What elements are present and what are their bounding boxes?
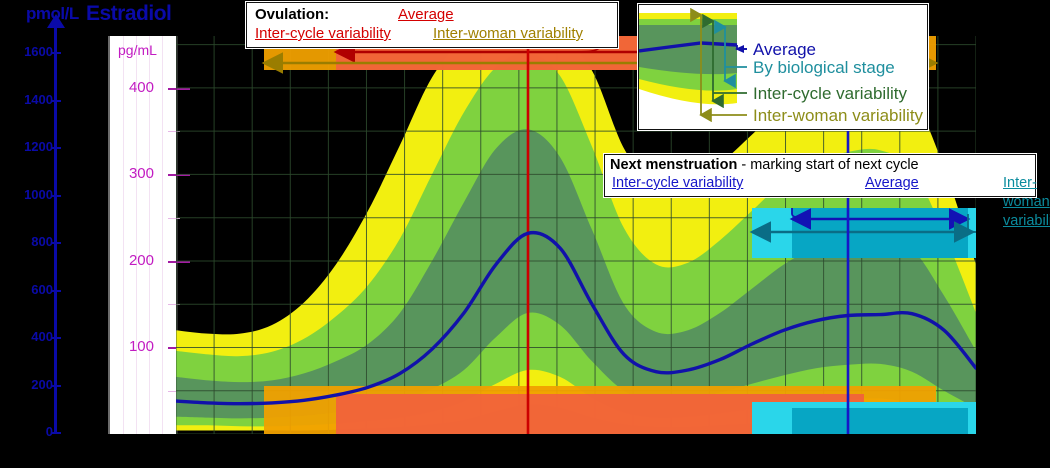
legend-item-label: Inter-cycle variability (753, 84, 907, 103)
pgml-axis-tick-label: 300 (129, 165, 154, 182)
legend-item-label: Average (753, 40, 816, 59)
pmol-axis-tick (52, 100, 61, 102)
menstruation-heading-bold: Next menstruation (610, 157, 737, 173)
menstruation-average-label: Average (865, 174, 919, 193)
legend-swatch-graphic: AverageBy biological stageInter-cycle va… (639, 5, 925, 127)
ovulation-annotation-card: Ovulation: Average Inter-cycle variabili… (246, 2, 618, 48)
pmol-axis-spine (54, 22, 57, 434)
pmol-axis-tick-label: 1400 (24, 92, 53, 107)
pmol-axis-tick (52, 195, 61, 197)
pmol-axis: pmol/L 16001400120010008006004002000 (0, 0, 105, 468)
pgml-axis-unit-label: pg/mL (118, 42, 157, 58)
pmol-axis-tick-label: 600 (31, 282, 53, 297)
pgml-axis-tick-label: 100 (129, 338, 154, 355)
pmol-axis-tick (52, 290, 61, 292)
ovulation-inter-cycle-label: Inter-cycle variability (255, 24, 391, 43)
legend-item-label: Inter-woman variability (753, 106, 924, 125)
pgml-axis: pg/mL 400300200100 (108, 36, 178, 434)
ovulation-heading: Ovulation: (255, 6, 329, 23)
pmol-axis-tick (52, 385, 61, 387)
pgml-axis-tick-label: 400 (129, 79, 154, 96)
pmol-axis-tick (52, 432, 61, 434)
legend-item-label: By biological stage (753, 58, 895, 77)
pmol-axis-tick-label: 1200 (24, 139, 53, 154)
pmol-axis-tick-label: 1600 (24, 44, 53, 59)
menstruation-inter-cycle-label: Inter-cycle variability (612, 174, 743, 193)
menstruation-inter-cycle-span-bottom (792, 408, 968, 434)
pmol-axis-tick (52, 52, 61, 54)
menstruation-inter-woman-label: Inter-woman variability (1003, 174, 1050, 231)
legend-card: AverageBy biological stageInter-cycle va… (638, 4, 928, 130)
pgml-axis-tick-label: 200 (129, 252, 154, 269)
pmol-axis-tick (52, 242, 61, 244)
menstruation-heading-rest: - marking start of next cycle (737, 157, 918, 173)
ovulation-average-label: Average (398, 6, 454, 23)
menstruation-annotation-card: Next menstruation - marking start of nex… (604, 154, 1036, 197)
pmol-axis-tick-label: 200 (31, 377, 53, 392)
pmol-axis-tick (52, 337, 61, 339)
page-title: Estradiol (86, 2, 171, 26)
pmol-axis-tick-label: 0 (46, 424, 53, 439)
pmol-axis-tick (52, 147, 61, 149)
pmol-axis-tick-label: 1000 (24, 187, 53, 202)
pmol-axis-tick-label: 400 (31, 329, 53, 344)
ovulation-inter-woman-label: Inter-woman variability (433, 24, 583, 43)
pmol-axis-tick-label: 800 (31, 234, 53, 249)
